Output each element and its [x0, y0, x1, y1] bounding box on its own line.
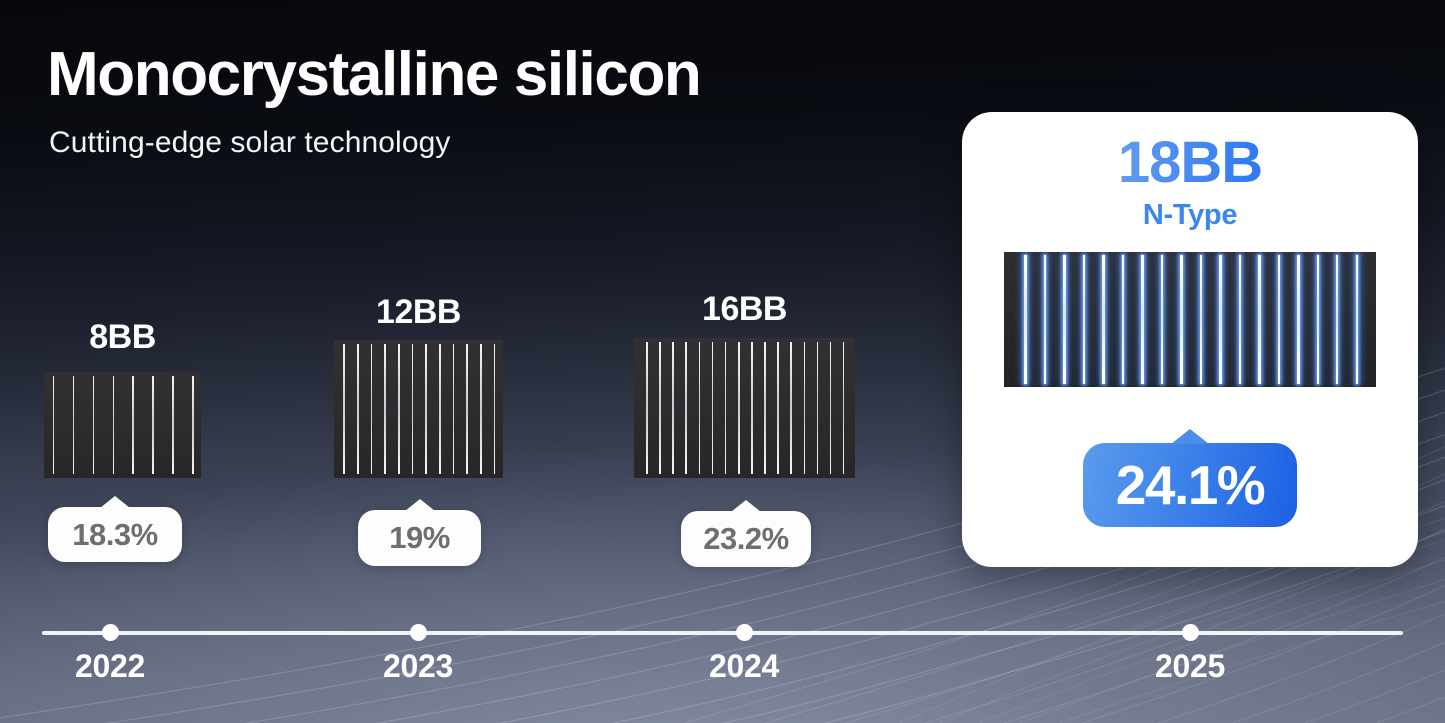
busbar-line — [790, 342, 792, 474]
busbar-line — [1122, 255, 1124, 384]
busbar-line — [53, 376, 55, 474]
solar-cell-8bb — [44, 372, 201, 478]
efficiency-badge-text: 19% — [389, 520, 450, 556]
busbar-line — [1239, 255, 1241, 384]
timeline-dot-2024[interactable] — [736, 624, 753, 641]
efficiency-badge-24-1: 24.1% — [1083, 443, 1297, 527]
busbar-line — [1024, 255, 1026, 384]
infographic-root: Monocrystalline silicon Cutting-edge sol… — [0, 0, 1445, 723]
busbar-line — [494, 344, 496, 474]
card-title-18bb: 18BB — [962, 134, 1418, 192]
step-2023: 12BB — [334, 293, 503, 478]
busbar-line — [1356, 255, 1358, 384]
timeline-dot-2025[interactable] — [1182, 624, 1199, 641]
busbar-line — [1336, 255, 1338, 384]
busbar-line — [725, 342, 727, 474]
busbar-line — [93, 376, 95, 474]
busbar-line — [1219, 255, 1221, 384]
busbar-line — [1102, 255, 1104, 384]
busbar-line — [371, 344, 373, 474]
busbar-line — [357, 344, 359, 474]
step-label-8bb: 8BB — [44, 318, 201, 357]
busbar-line — [192, 376, 194, 474]
busbar-line — [384, 344, 386, 474]
busbar-line — [1141, 255, 1143, 384]
busbar-line — [73, 376, 75, 474]
busbar-line — [672, 342, 674, 474]
efficiency-badge-18-3: 18.3% — [48, 507, 182, 562]
busbar-line — [152, 376, 154, 474]
busbar-line — [398, 344, 400, 474]
efficiency-badge-23-2: 23.2% — [681, 511, 811, 567]
busbar-line — [1258, 255, 1260, 384]
busbar-line — [172, 376, 174, 474]
busbar-line — [699, 342, 701, 474]
card-subtitle-ntype: N-Type — [962, 201, 1418, 230]
busbar-line — [1278, 255, 1280, 384]
step-label-16bb: 16BB — [634, 290, 855, 329]
busbar-line — [817, 342, 819, 474]
efficiency-badge-19: 19% — [358, 510, 481, 566]
busbar-line — [1297, 255, 1299, 384]
timeline-dot-2023[interactable] — [410, 624, 427, 641]
busbar-line — [646, 342, 648, 474]
busbar-line — [132, 376, 134, 474]
busbar-line — [1063, 255, 1065, 384]
busbar-line — [466, 344, 468, 474]
busbar-line — [804, 342, 806, 474]
busbar-line — [685, 342, 687, 474]
busbar-line — [453, 344, 455, 474]
busbar-line — [1180, 255, 1182, 384]
page-title: Monocrystalline silicon — [47, 42, 700, 107]
timeline-year-2025: 2025 — [1155, 648, 1225, 685]
timeline-axis-line — [42, 631, 1403, 635]
feature-card-18bb[interactable]: 18BB N-Type 24.1% — [962, 112, 1418, 567]
busbar-line — [659, 342, 661, 474]
page-subtitle: Cutting-edge solar technology — [49, 126, 450, 160]
busbar-line — [343, 344, 345, 474]
busbar-line — [1044, 255, 1046, 384]
busbar-line — [843, 342, 845, 474]
busbar-line — [425, 344, 427, 474]
busbar-line — [412, 344, 414, 474]
busbar-line — [830, 342, 832, 474]
busbar-line — [1083, 255, 1085, 384]
busbar-line — [764, 342, 766, 474]
step-2024: 16BB — [634, 290, 855, 478]
busbar-line — [1317, 255, 1319, 384]
efficiency-badge-text: 24.1% — [1116, 453, 1264, 517]
timeline-year-2022: 2022 — [75, 648, 145, 685]
busbar-line — [738, 342, 740, 474]
busbar-line — [1200, 255, 1202, 384]
busbar-line — [113, 376, 115, 474]
step-label-12bb: 12BB — [334, 293, 503, 332]
timeline-year-2024: 2024 — [709, 648, 779, 685]
solar-cell-12bb — [334, 340, 503, 478]
efficiency-badge-text: 23.2% — [703, 521, 788, 557]
efficiency-badge-text: 18.3% — [72, 517, 157, 553]
busbar-line — [712, 342, 714, 474]
busbar-line — [751, 342, 753, 474]
busbar-line — [777, 342, 779, 474]
step-2022: 8BB — [44, 318, 201, 478]
busbar-line — [480, 344, 482, 474]
solar-cell-18bb — [1004, 252, 1376, 387]
busbar-line — [1161, 255, 1163, 384]
solar-cell-16bb — [634, 338, 855, 478]
busbar-line — [439, 344, 441, 474]
timeline-dot-2022[interactable] — [102, 624, 119, 641]
timeline-year-2023: 2023 — [383, 648, 453, 685]
